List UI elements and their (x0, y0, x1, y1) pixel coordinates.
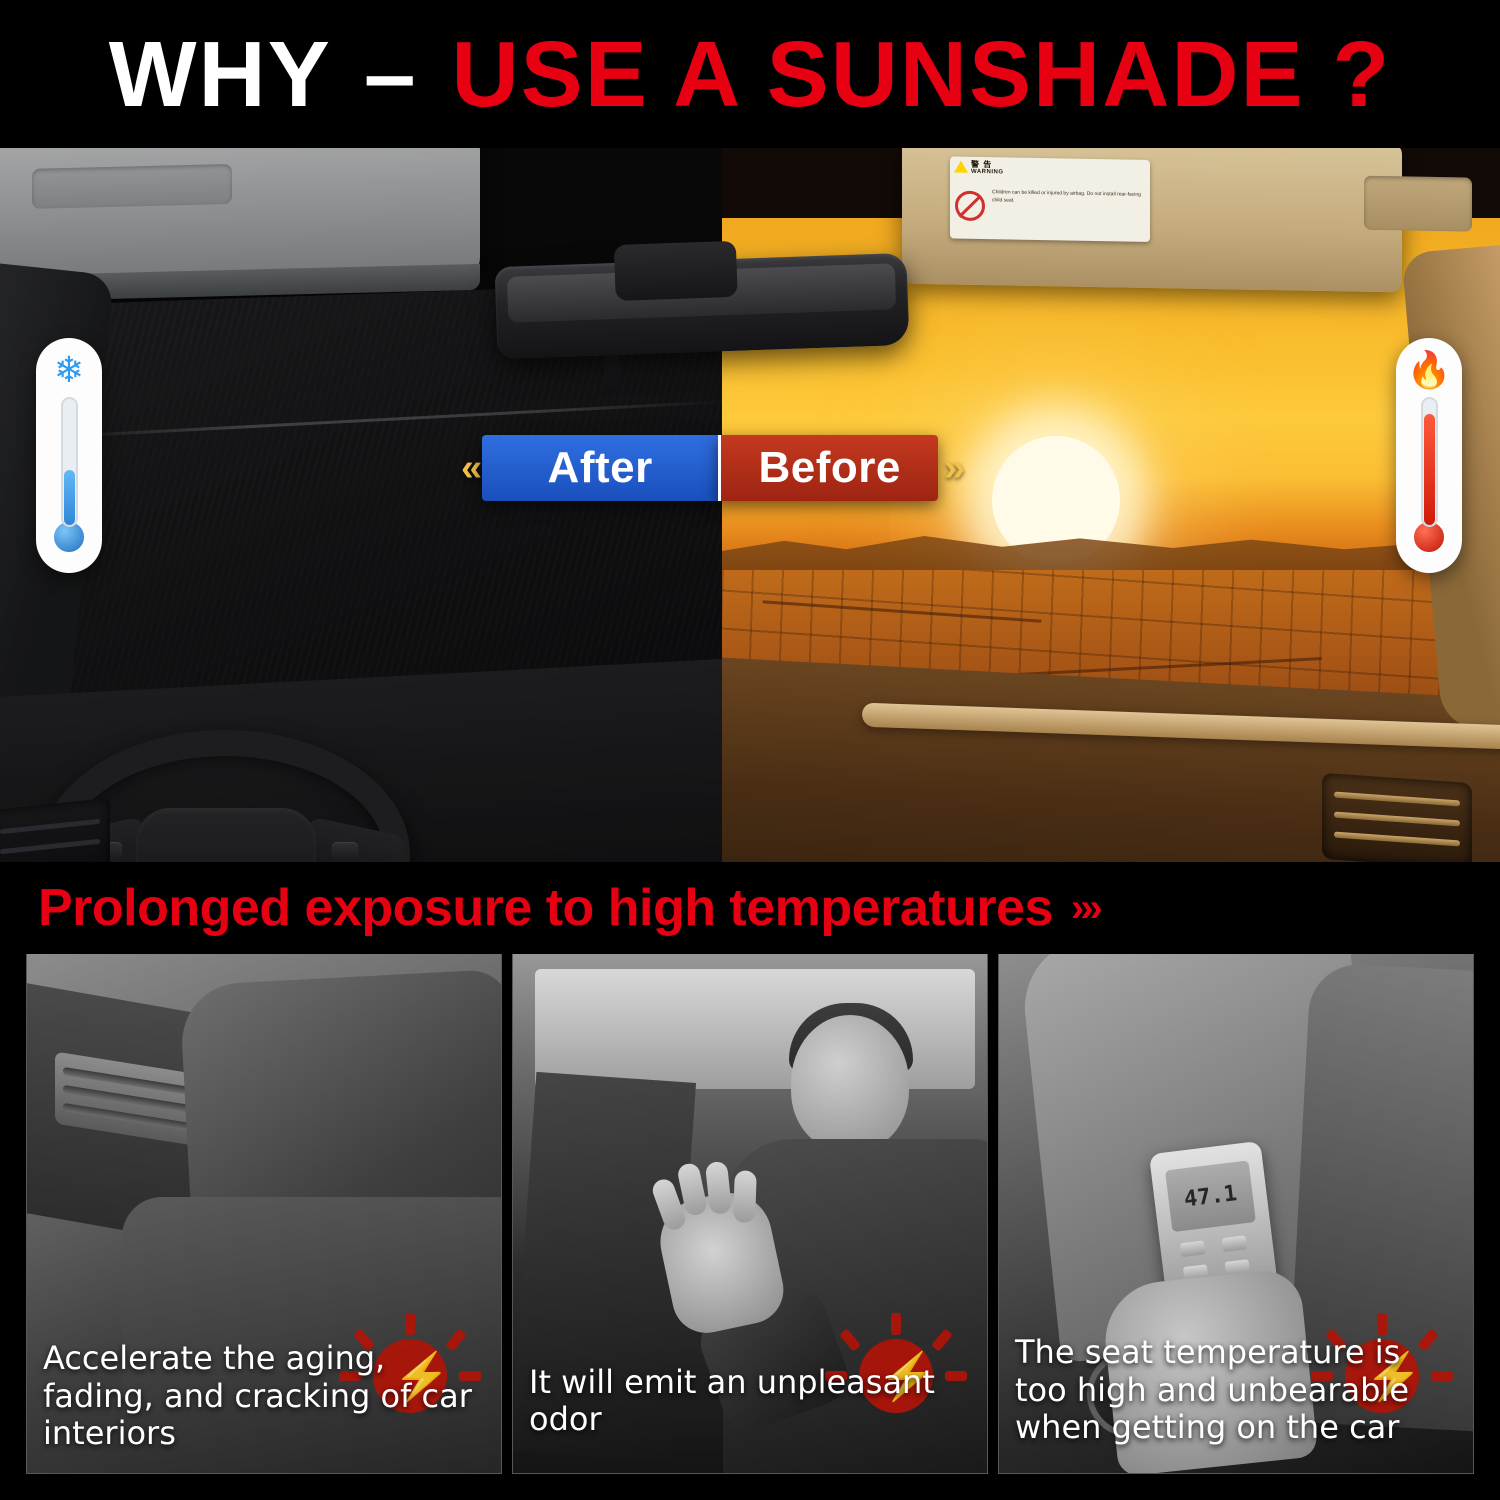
panel2-person-head (791, 1015, 909, 1151)
badge-after[interactable]: After (482, 435, 718, 501)
thermometer-hot: 🔥 (1396, 338, 1462, 573)
thermometer-display: 47.1 (1165, 1160, 1256, 1232)
thermometer-cold: ❄ (36, 338, 102, 573)
ground-crack (762, 600, 1042, 623)
thermometer-hot-tube (1421, 397, 1438, 527)
panel2-window (535, 969, 975, 1089)
warning-label-header: 警 告 WARNING (954, 160, 1146, 179)
no-rear-facing-seat-icon (955, 191, 985, 222)
vent-slat (1334, 812, 1460, 827)
device-button-1 (1180, 1240, 1206, 1257)
thermometer-cold-fill (64, 470, 75, 525)
warning-title-en: WARNING (971, 169, 1004, 176)
snowflake-icon: ❄ (46, 347, 92, 393)
air-vent-right (1322, 773, 1472, 869)
panel-odor-caption: It will emit an unpleasant odor (513, 1364, 987, 1456)
title-word-why: WHY (109, 22, 330, 126)
steering-button-3 (332, 842, 358, 859)
rearview-mirror (495, 253, 910, 359)
hero-half-before: 警 告 WARNING Children can be killed or in… (722, 118, 1500, 938)
panel-seat-temperature: 47.1 ⚡ The seat temperature is too high … (998, 946, 1474, 1474)
sun-visor-sunlit: 警 告 WARNING Children can be killed or in… (902, 134, 1402, 293)
badge-before[interactable]: Before (718, 435, 938, 501)
thermometer-cold-tube (61, 397, 78, 527)
hero-comparison-image: 警 告 WARNING Children can be killed or in… (0, 118, 1500, 938)
panel-aging: ⚡ Accelerate the aging, fading, and crac… (26, 946, 502, 1474)
benefit-panels: ⚡ Accelerate the aging, fading, and crac… (0, 946, 1500, 1500)
warning-banner-text: Prolonged exposure to high temperatures (38, 878, 1053, 938)
title-phrase-use-a-sunshade: USE A SUNSHADE ? (452, 22, 1392, 126)
panel-odor: ⚡ It will emit an unpleasant odor (512, 946, 988, 1474)
flame-icon: 🔥 (1406, 347, 1452, 393)
chevron-right-icon: » (938, 449, 965, 487)
chevron-left-icon: « (455, 449, 482, 487)
warning-triangle-icon (954, 161, 968, 173)
airbag-warning-label: 警 告 WARNING Children can be killed or in… (950, 156, 1150, 241)
vent-slat (1334, 832, 1460, 847)
hero-half-after (0, 118, 722, 938)
panel-seat-temperature-caption: The seat temperature is too high and unb… (999, 1334, 1473, 1463)
warning-label-titles: 警 告 WARNING (971, 160, 1004, 177)
vanity-mirror-cover (1364, 176, 1472, 232)
panel-aging-caption: Accelerate the aging, fading, and cracki… (27, 1340, 501, 1469)
page-title: WHY – USE A SUNSHADE ? (109, 28, 1391, 121)
device-button-2 (1222, 1235, 1248, 1252)
rearview-mirror-sensor-pod (614, 241, 738, 301)
vent-slat (1334, 792, 1460, 807)
title-dash: – (358, 22, 424, 126)
finger (733, 1170, 757, 1223)
chevron-right-triple-icon: ››› (1071, 886, 1099, 931)
before-after-toggle[interactable]: « After Before » (455, 432, 1000, 504)
warning-banner: Prolonged exposure to high temperatures … (0, 862, 1500, 954)
warning-label-body: Children can be killed or injured by air… (992, 189, 1146, 207)
page-header: WHY – USE A SUNSHADE ? (0, 0, 1500, 148)
thermometer-hot-fill (1424, 414, 1435, 525)
